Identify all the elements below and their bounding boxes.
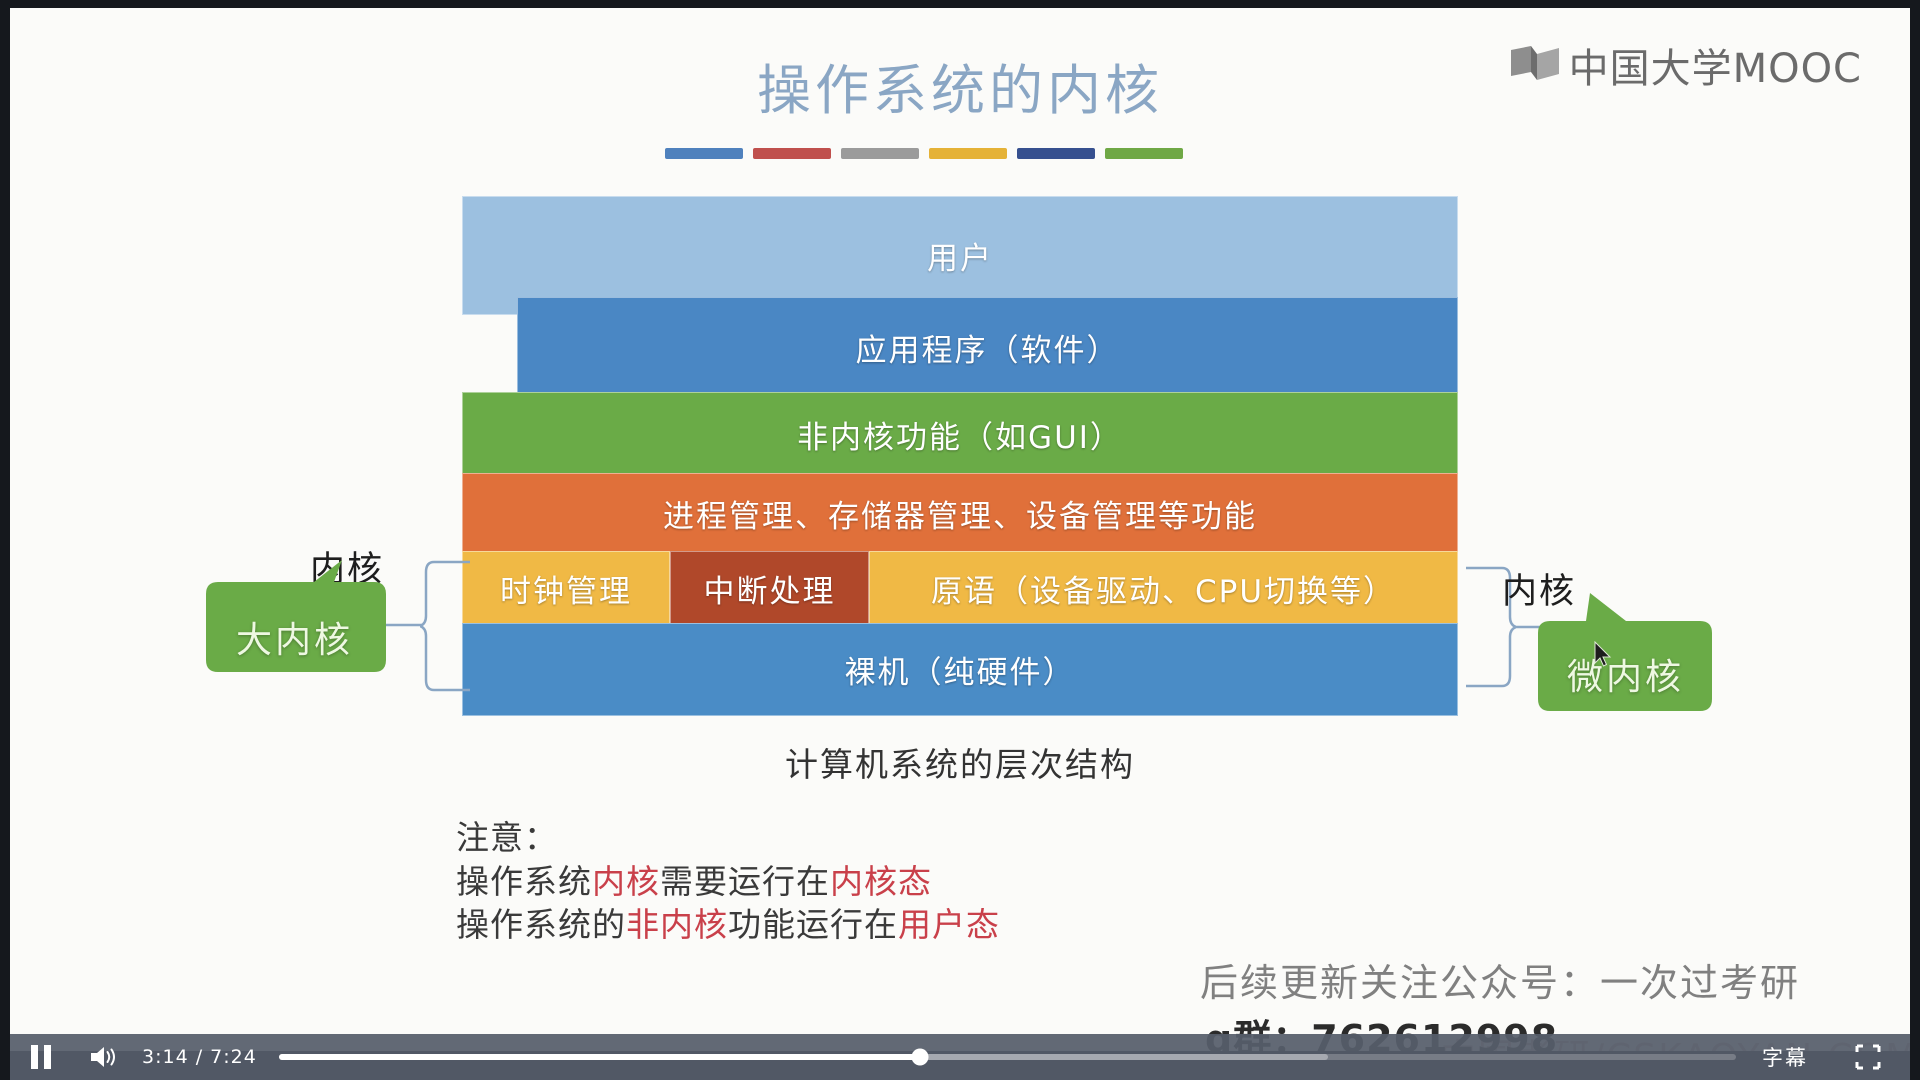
note-line-2: 操作系统的非内核功能运行在用户态 bbox=[456, 903, 1000, 947]
callout-big-kernel[interactable]: 大内核 bbox=[202, 594, 387, 679]
exit-fullscreen-icon bbox=[1855, 1044, 1881, 1070]
video-player: 中国大学MOOC 操作系统的内核 用户 应用程序（软件） 非内核功能（如GUI）… bbox=[0, 0, 1920, 1080]
exit-fullscreen-button[interactable] bbox=[1840, 1044, 1896, 1070]
layer-clock-management: 时钟管理 bbox=[462, 551, 670, 626]
note-line2-text2: 功能运行在 bbox=[728, 905, 898, 944]
rule-swatch-1 bbox=[665, 148, 743, 159]
rule-swatch-3 bbox=[841, 148, 919, 159]
pause-icon-bar-left bbox=[31, 1045, 38, 1069]
pause-button[interactable] bbox=[10, 1045, 72, 1069]
note-line-1: 操作系统内核需要运行在内核态 bbox=[456, 860, 1000, 904]
left-kernel-bracket bbox=[420, 560, 476, 692]
rule-swatch-5 bbox=[1017, 148, 1095, 159]
note-line1-highlight1: 内核 bbox=[592, 862, 660, 901]
rule-swatch-6 bbox=[1105, 148, 1183, 159]
progress-bar[interactable] bbox=[279, 1054, 1736, 1060]
subtitle-button[interactable]: 字幕 bbox=[1762, 1042, 1808, 1072]
slide-canvas: 中国大学MOOC 操作系统的内核 用户 应用程序（软件） 非内核功能（如GUI）… bbox=[10, 8, 1910, 1051]
note-block: 注意： 操作系统内核需要运行在内核态 操作系统的非内核功能运行在用户态 bbox=[456, 816, 1000, 947]
layer-interrupt-handling: 中断处理 bbox=[670, 551, 869, 626]
layer-primitives: 原语（设备驱动、CPU切换等） bbox=[869, 551, 1458, 626]
layer-non-kernel: 非内核功能（如GUI） bbox=[462, 392, 1458, 477]
pause-icon-bar-right bbox=[44, 1045, 51, 1069]
layer-bare-machine: 裸机（纯硬件） bbox=[462, 623, 1458, 716]
rule-swatch-4 bbox=[929, 148, 1007, 159]
diagram-caption: 计算机系统的层次结构 bbox=[462, 738, 1458, 786]
kernel-core-row: 时钟管理 中断处理 原语（设备驱动、CPU切换等） bbox=[462, 551, 1458, 626]
time-display: 3:14 / 7:24 bbox=[142, 1046, 257, 1068]
layer-management-functions: 进程管理、存储器管理、设备管理等功能 bbox=[462, 473, 1458, 554]
rule-swatch-2 bbox=[753, 148, 831, 159]
slide-title: 操作系统的内核 bbox=[10, 46, 1910, 125]
note-line1-text2: 需要运行在 bbox=[660, 862, 830, 901]
player-control-bar: 3:14 / 7:24 字幕 bbox=[10, 1034, 1910, 1080]
volume-button[interactable] bbox=[72, 1045, 134, 1069]
note-line2-text1: 操作系统的 bbox=[456, 905, 626, 944]
note-line1-text1: 操作系统 bbox=[456, 862, 592, 901]
layer-application: 应用程序（软件） bbox=[517, 297, 1458, 397]
callout-micro-kernel[interactable]: 微内核 bbox=[1538, 633, 1713, 715]
callout-micro-kernel-shape bbox=[1530, 593, 1726, 721]
note-line2-highlight2: 用户态 bbox=[898, 905, 1000, 944]
volume-icon bbox=[89, 1045, 117, 1069]
system-hierarchy-diagram: 用户 应用程序（软件） 非内核功能（如GUI） 进程管理、存储器管理、设备管理等… bbox=[462, 196, 1458, 736]
callout-big-kernel-shape bbox=[196, 560, 396, 684]
promo-watermark: 后续更新关注公众号：一次过考研 bbox=[1200, 952, 1800, 1007]
note-heading: 注意： bbox=[456, 816, 1000, 860]
title-rule-swatches bbox=[665, 148, 1183, 159]
progress-played bbox=[279, 1054, 920, 1060]
note-line1-highlight2: 内核态 bbox=[830, 862, 932, 901]
progress-handle[interactable] bbox=[911, 1049, 928, 1066]
note-line2-highlight1: 非内核 bbox=[626, 905, 728, 944]
